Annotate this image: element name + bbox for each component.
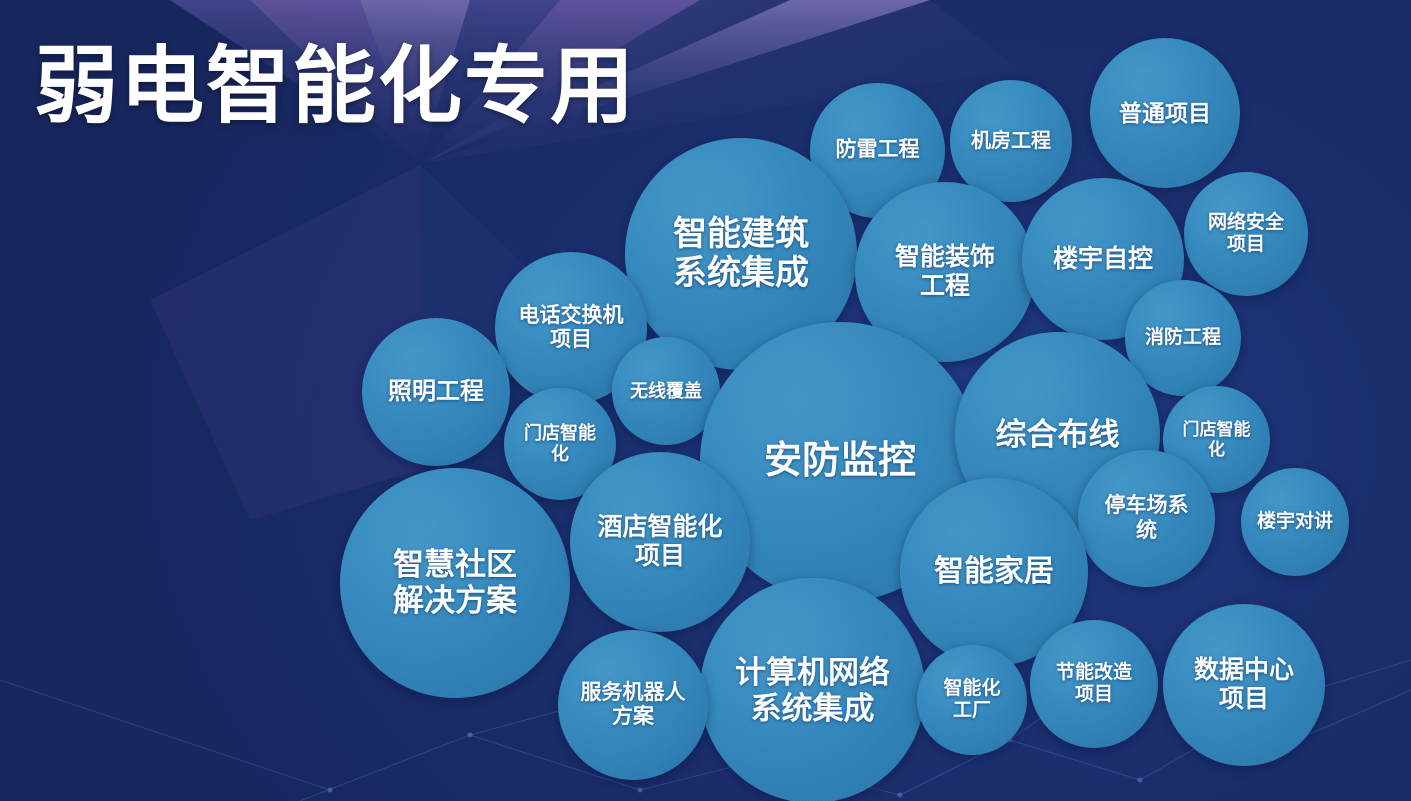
bubble-label: 网络安全项目 bbox=[1188, 212, 1304, 256]
bubble-item[interactable]: 节能改造项目 bbox=[1030, 620, 1158, 748]
bubble-label: 门店智能化 bbox=[508, 423, 612, 464]
bubble-item[interactable]: 楼宇对讲 bbox=[1241, 468, 1349, 576]
bubble-label: 楼宇自控 bbox=[1026, 245, 1180, 274]
bubble-label: 停车场系统 bbox=[1082, 494, 1211, 542]
bubble-label: 酒店智能化项目 bbox=[574, 513, 746, 571]
bubble-label: 数据中心项目 bbox=[1167, 656, 1321, 714]
bubble-item[interactable]: 智慧社区解决方案 bbox=[340, 468, 570, 698]
bubble-item[interactable]: 普通项目 bbox=[1090, 38, 1240, 188]
bubble-item[interactable]: 酒店智能化项目 bbox=[570, 452, 750, 632]
bubble-label: 电话交换机项目 bbox=[499, 304, 643, 352]
bubble-label: 机房工程 bbox=[954, 130, 1068, 153]
bubble-item[interactable]: 照明工程 bbox=[362, 318, 510, 466]
bubble-item[interactable]: 计算机网络系统集成 bbox=[700, 578, 925, 801]
bubble-label: 安防监控 bbox=[704, 440, 976, 484]
bubble-label: 防雷工程 bbox=[814, 138, 941, 162]
bubble-label: 节能改造项目 bbox=[1034, 662, 1154, 706]
bubble-label: 服务机器人方案 bbox=[562, 681, 704, 729]
slide-canvas: 弱电智能化专用 防雷工程机房工程普通项目网络安全项目智能建筑系统集成智能装饰工程… bbox=[0, 0, 1411, 801]
bubble-label: 普通项目 bbox=[1094, 100, 1236, 126]
bubble-label: 智能装饰工程 bbox=[859, 243, 1031, 301]
bubble-item[interactable]: 智能化工厂 bbox=[917, 645, 1027, 755]
bubble-label: 智能家居 bbox=[904, 555, 1084, 590]
bubble-item[interactable]: 数据中心项目 bbox=[1163, 604, 1325, 766]
bubble-label: 综合布线 bbox=[959, 417, 1156, 453]
bubble-label: 智能建筑系统集成 bbox=[629, 215, 853, 293]
bubble-label: 楼宇对讲 bbox=[1245, 511, 1345, 533]
bubble-label: 门店智能化 bbox=[1167, 420, 1266, 459]
bubble-label: 消防工程 bbox=[1129, 327, 1237, 349]
bubble-label: 智能化工厂 bbox=[921, 678, 1023, 722]
bubble-item[interactable]: 服务机器人方案 bbox=[558, 630, 708, 780]
bubble-item[interactable]: 网络安全项目 bbox=[1184, 172, 1308, 296]
bubble-label: 智慧社区解决方案 bbox=[344, 547, 566, 618]
bubble-label: 无线覆盖 bbox=[616, 381, 716, 402]
bubble-item[interactable]: 机房工程 bbox=[950, 80, 1072, 202]
bubble-label: 计算机网络系统集成 bbox=[704, 655, 921, 726]
bubble-item[interactable]: 停车场系统 bbox=[1078, 450, 1215, 587]
bubble-label: 照明工程 bbox=[366, 378, 506, 406]
page-title: 弱电智能化专用 bbox=[34, 42, 636, 130]
